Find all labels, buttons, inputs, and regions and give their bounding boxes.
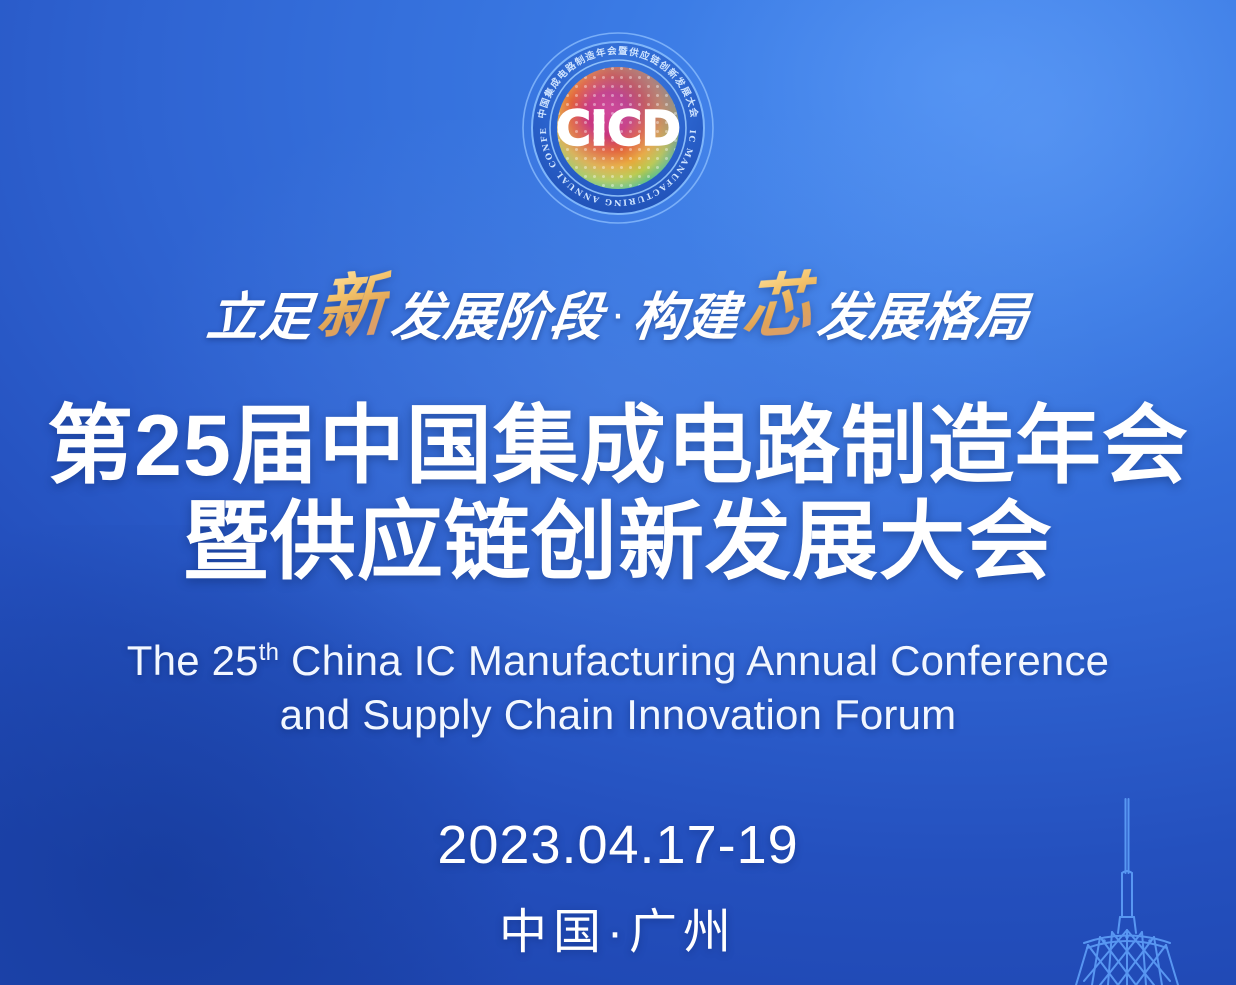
event-location: 中国·广州 xyxy=(0,902,1236,964)
subtitle-line-1: The 25th China IC Manufacturing Annual C… xyxy=(0,634,1236,688)
slogan: 立足 新 发展阶段 · 构建 芯 发展格局 xyxy=(0,276,1236,360)
slogan-accent-xin-new: 新 xyxy=(312,269,391,344)
title-line-2: 暨供应链创新发展大会 xyxy=(0,494,1236,590)
english-subtitle: The 25th China IC Manufacturing Annual C… xyxy=(0,634,1236,742)
subtitle-line-2: and Supply Chain Innovation Forum xyxy=(0,688,1236,742)
page-title: 第25届中国集成电路制造年会 暨供应链创新发展大会 xyxy=(0,398,1236,590)
subtitle-ordinal-suffix: th xyxy=(259,639,279,666)
slogan-part-2: 发展阶段 xyxy=(388,292,605,344)
slogan-part-1: 立足 xyxy=(204,292,315,344)
cicd-logo: 中国集成电路制造年会暨供应链创新发展大会 CHINA IC MANUFACTUR… xyxy=(518,28,718,228)
event-details: 2023.04.17-19 中国·广州 xyxy=(0,812,1236,964)
slogan-part-4: 发展格局 xyxy=(815,292,1032,344)
slogan-separator: · xyxy=(605,292,632,336)
cicd-logo-svg: 中国集成电路制造年会暨供应链创新发展大会 CHINA IC MANUFACTUR… xyxy=(518,28,718,228)
conference-poster: 中国集成电路制造年会暨供应链创新发展大会 CHINA IC MANUFACTUR… xyxy=(0,0,1236,985)
title-line-1: 第25届中国集成电路制造年会 xyxy=(0,398,1236,494)
logo-monogram: CICD xyxy=(556,101,680,157)
subtitle-prefix: The 25 xyxy=(127,637,259,684)
slogan-part-3: 构建 xyxy=(631,292,742,344)
slogan-accent-xin-chip: 芯 xyxy=(739,269,818,344)
event-date: 2023.04.17-19 xyxy=(0,812,1236,878)
subtitle-rest: China IC Manufacturing Annual Conference xyxy=(279,637,1109,684)
